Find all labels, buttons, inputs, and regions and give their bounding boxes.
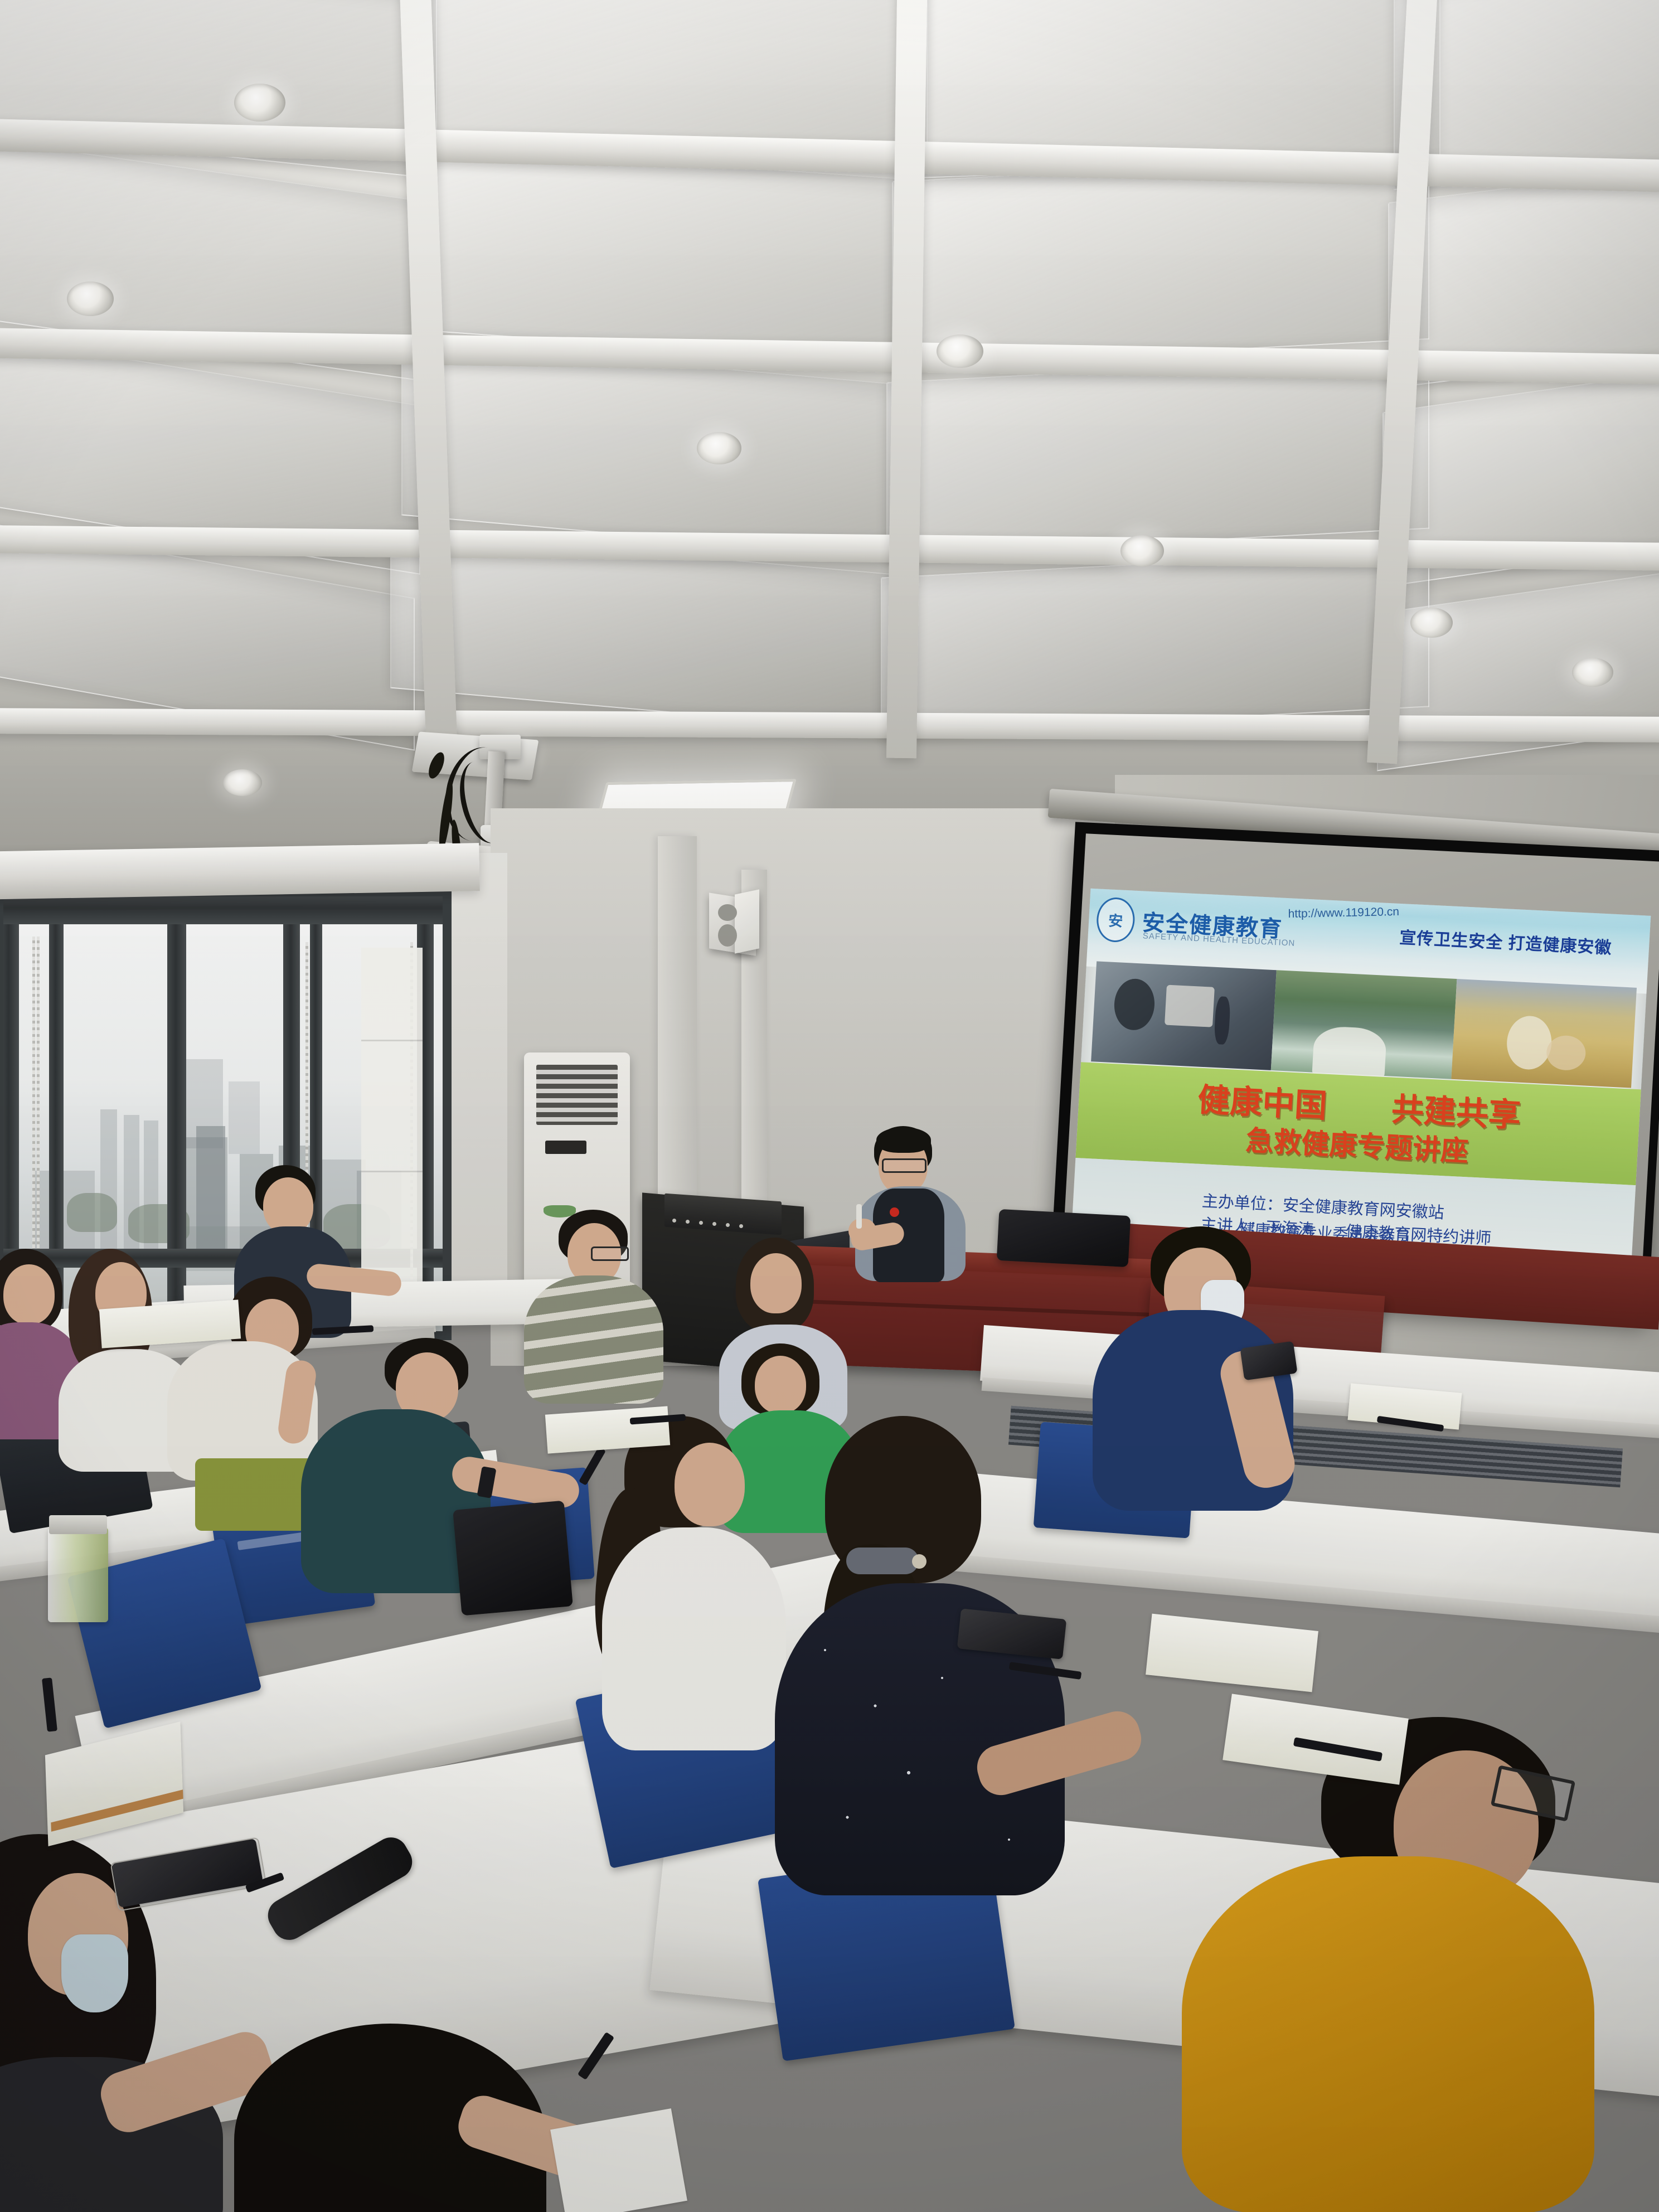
presenter-glasses-icon xyxy=(882,1158,926,1173)
ceiling-downlight xyxy=(1572,658,1613,687)
slide-photo-harvest xyxy=(1451,979,1637,1088)
wall-speaker-side xyxy=(735,889,759,953)
air-conditioner-display xyxy=(545,1141,586,1154)
pen xyxy=(42,1677,57,1731)
ceiling-downlight xyxy=(1120,535,1164,566)
speaker-cone-icon xyxy=(718,904,737,921)
attendee-torso xyxy=(602,1527,786,1750)
attendee-mustard-top xyxy=(1160,1717,1617,2212)
presenter-pointer xyxy=(856,1204,862,1229)
hair-tie-bead xyxy=(912,1554,926,1569)
ceiling-downlight xyxy=(67,282,114,316)
ceiling-downlight xyxy=(937,334,983,368)
ceiling-downlight xyxy=(697,432,741,464)
mixer-knob xyxy=(726,1223,730,1227)
slide-photo-river xyxy=(1271,970,1457,1079)
ceiling-coffer xyxy=(413,144,916,365)
slide-photo-office xyxy=(1091,961,1277,1070)
attendee-head xyxy=(263,1177,313,1234)
attendee-navy-polo-mask xyxy=(1093,1226,1382,1516)
ceiling-coffer xyxy=(886,353,1429,557)
presenter-hair-top xyxy=(876,1127,931,1153)
speaker-cone-icon xyxy=(718,924,737,947)
window-soffit xyxy=(0,843,480,900)
slide-website-url: http://www.119120.cn xyxy=(1288,905,1399,921)
attendee-head xyxy=(755,1356,806,1414)
presenter-badge xyxy=(890,1207,899,1217)
attendee-head xyxy=(3,1264,55,1325)
water-bottle xyxy=(48,1527,108,1622)
air-conditioner-grille xyxy=(536,1065,618,1125)
ceiling-downlight xyxy=(234,84,285,122)
ceiling-downlight xyxy=(223,769,262,796)
face-mask xyxy=(61,1934,128,2012)
notebook xyxy=(1146,1614,1318,1692)
attendee-glasses-icon xyxy=(591,1246,629,1261)
hair-tie xyxy=(846,1548,919,1574)
attendee-head xyxy=(675,1443,745,1526)
attendee-torso xyxy=(1182,1856,1594,2212)
ceiling-downlight xyxy=(1410,608,1453,638)
ceiling-coffer xyxy=(892,153,1429,368)
attendee-bottom-center xyxy=(234,2024,613,2212)
projected-slide: 安 安全健康教育 SAFETY AND HEALTH EDUCATION htt… xyxy=(1071,889,1651,1255)
mixer-knob xyxy=(739,1224,743,1228)
laptop-bag xyxy=(453,1501,573,1616)
bottle-cap xyxy=(49,1515,107,1534)
classroom-photo-scene: 安 安全健康教育 SAFETY AND HEALTH EDUCATION htt… xyxy=(0,0,1659,2212)
ceiling-coffer xyxy=(881,549,1429,736)
attendee-head xyxy=(750,1253,802,1313)
mixer-knob xyxy=(712,1222,716,1226)
attendee-star-print-blouse xyxy=(764,1416,1143,1895)
